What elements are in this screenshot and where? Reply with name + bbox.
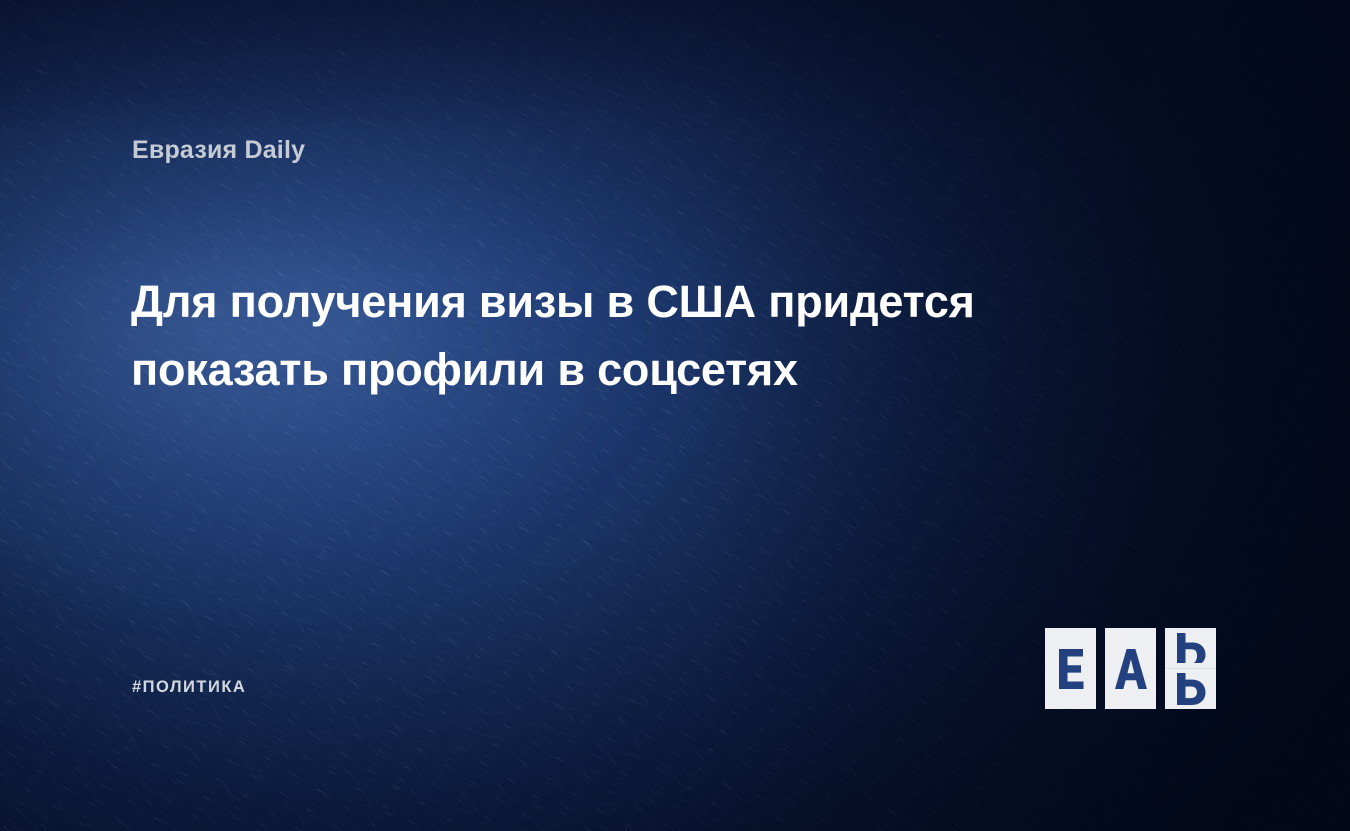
letter-a-icon bbox=[1114, 647, 1148, 691]
category-hashtag[interactable]: #ПОЛИТИКА bbox=[132, 678, 246, 697]
stacked-d-icon bbox=[1175, 633, 1207, 663]
stacked-d-lower bbox=[1165, 668, 1216, 709]
headline-line-1: Для получения визы в США придется bbox=[131, 268, 1191, 336]
brand-name: Евразия Daily bbox=[132, 136, 305, 165]
eadaily-logo[interactable] bbox=[1045, 628, 1217, 709]
logo-tile-a bbox=[1105, 628, 1156, 709]
headline-line-2: показать профили в соцсетях bbox=[131, 336, 1191, 404]
headline: Для получения визы в США придется показа… bbox=[131, 268, 1191, 404]
logo-tile-stacked-d bbox=[1165, 628, 1216, 709]
letter-e-icon bbox=[1056, 647, 1086, 691]
card-content: Евразия Daily Для получения визы в США п… bbox=[0, 0, 1350, 831]
logo-tile-e bbox=[1045, 628, 1096, 709]
stacked-d-upper bbox=[1165, 628, 1216, 668]
stacked-d-icon bbox=[1175, 673, 1207, 705]
news-social-card: Евразия Daily Для получения визы в США п… bbox=[0, 0, 1350, 831]
